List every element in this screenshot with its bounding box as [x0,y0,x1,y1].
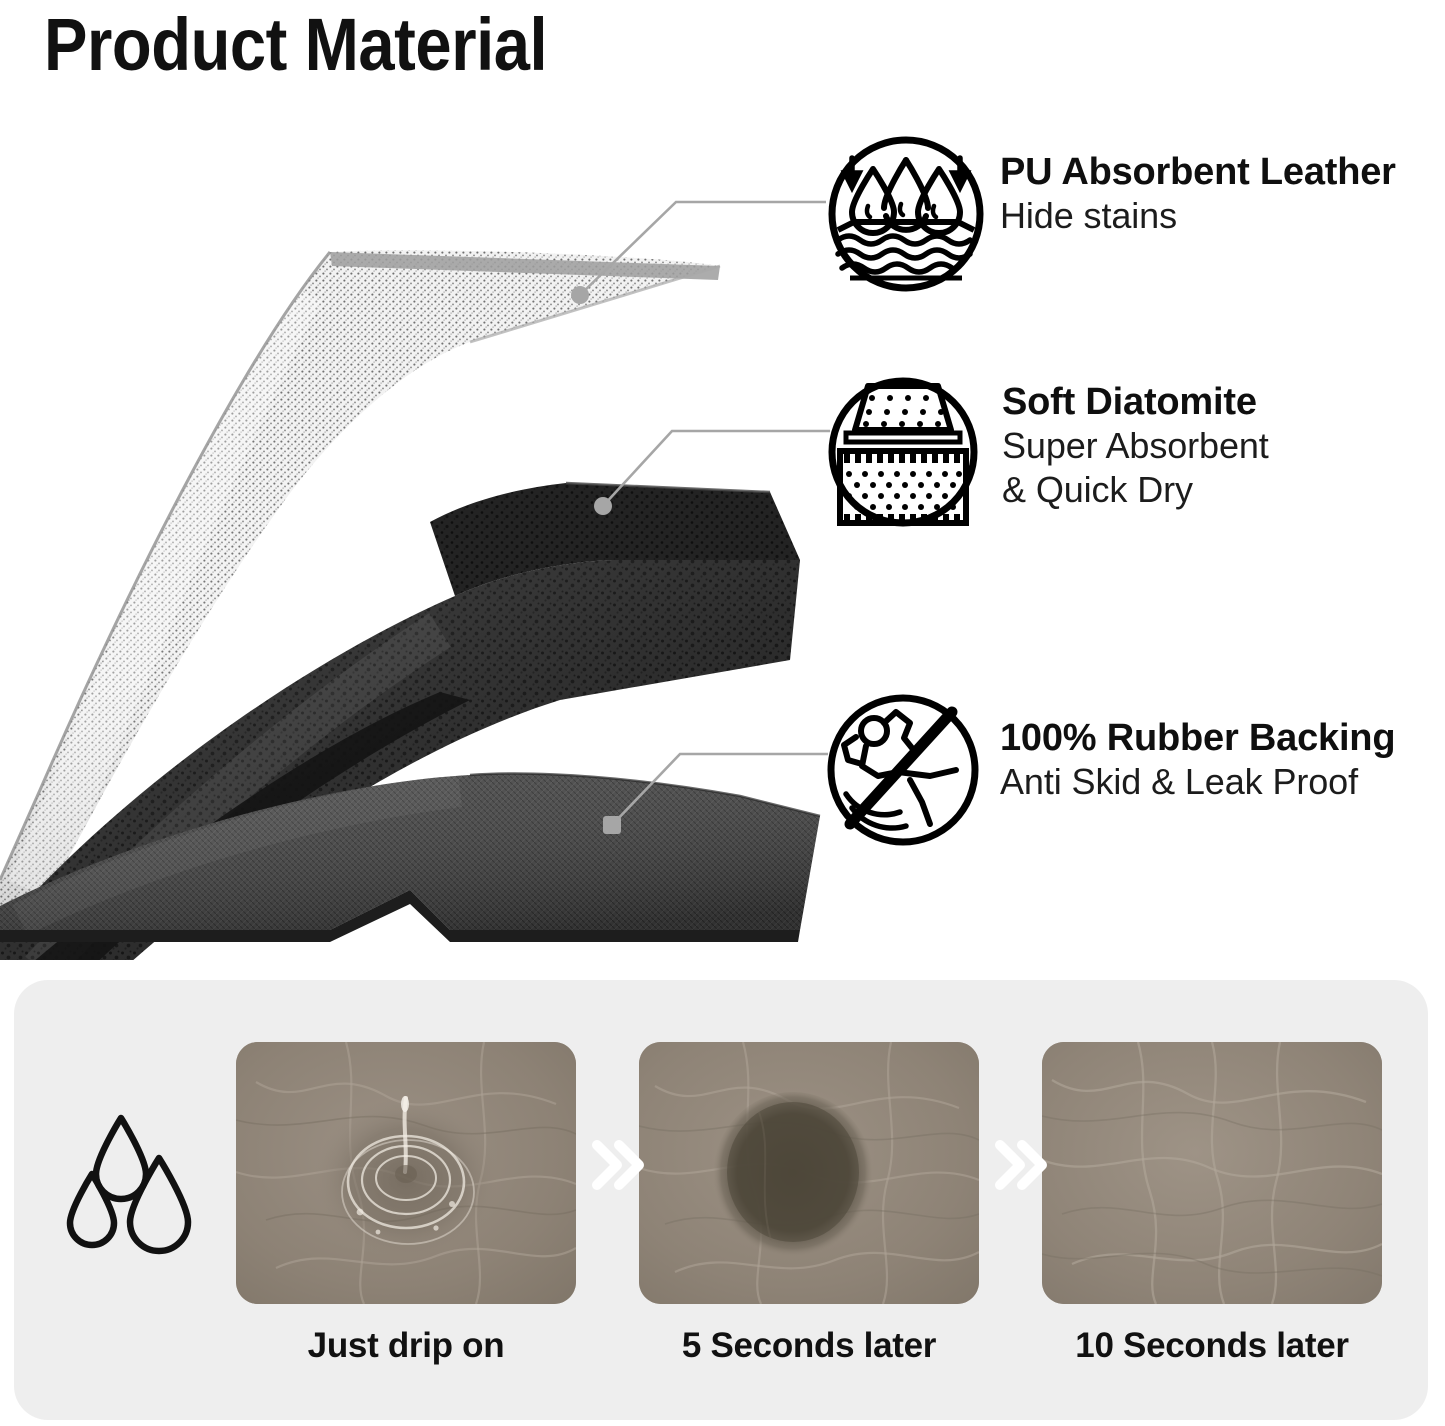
water-absorb-icon [826,134,986,294]
demo-step: Just drip on [236,1042,576,1366]
demo-tile-dark-spot [639,1042,979,1304]
double-chevron-right-icon [994,1135,1050,1195]
page-title: Product Material [44,2,547,87]
absorption-demo-panel: Just drip on [14,980,1428,1420]
feature-callout-pu-leather: PU Absorbent Leather Hide stains [826,134,1396,294]
callout-text-block: Soft Diatomite Super Absorbent & Quick D… [1002,372,1269,512]
diatomite-layers-icon [828,372,988,532]
demo-step-label: 5 Seconds later [639,1326,979,1366]
demo-tile-splash [236,1042,576,1304]
feature-title: PU Absorbent Leather [1000,150,1396,194]
no-slip-icon [826,690,986,850]
feature-callout-rubber-backing: 100% Rubber Backing Anti Skid & Leak Pro… [826,690,1395,850]
product-material-infographic: Product Material [0,0,1445,1426]
demo-step: 10 Seconds later [1042,1042,1382,1366]
demo-step-label: Just drip on [236,1326,576,1366]
demo-step-label: 10 Seconds later [1042,1326,1382,1366]
feature-title: Soft Diatomite [1002,380,1269,424]
demo-step: 5 Seconds later [639,1042,979,1366]
demo-tile-dry [1042,1042,1382,1304]
feature-subtitle: Anti Skid & Leak Proof [1000,760,1395,804]
double-chevron-right-icon [591,1135,647,1195]
water-droplets-icon [58,1108,238,1268]
callout-text-block: 100% Rubber Backing Anti Skid & Leak Pro… [1000,690,1395,804]
feature-callout-diatomite: Soft Diatomite Super Absorbent & Quick D… [828,372,1269,532]
callout-text-block: PU Absorbent Leather Hide stains [1000,134,1396,238]
feature-subtitle: Hide stains [1000,194,1396,238]
layered-mat-illustration [0,230,840,960]
feature-title: 100% Rubber Backing [1000,716,1395,760]
feature-subtitle-line1: Super Absorbent [1002,424,1269,468]
feature-subtitle-line2: & Quick Dry [1002,468,1269,512]
